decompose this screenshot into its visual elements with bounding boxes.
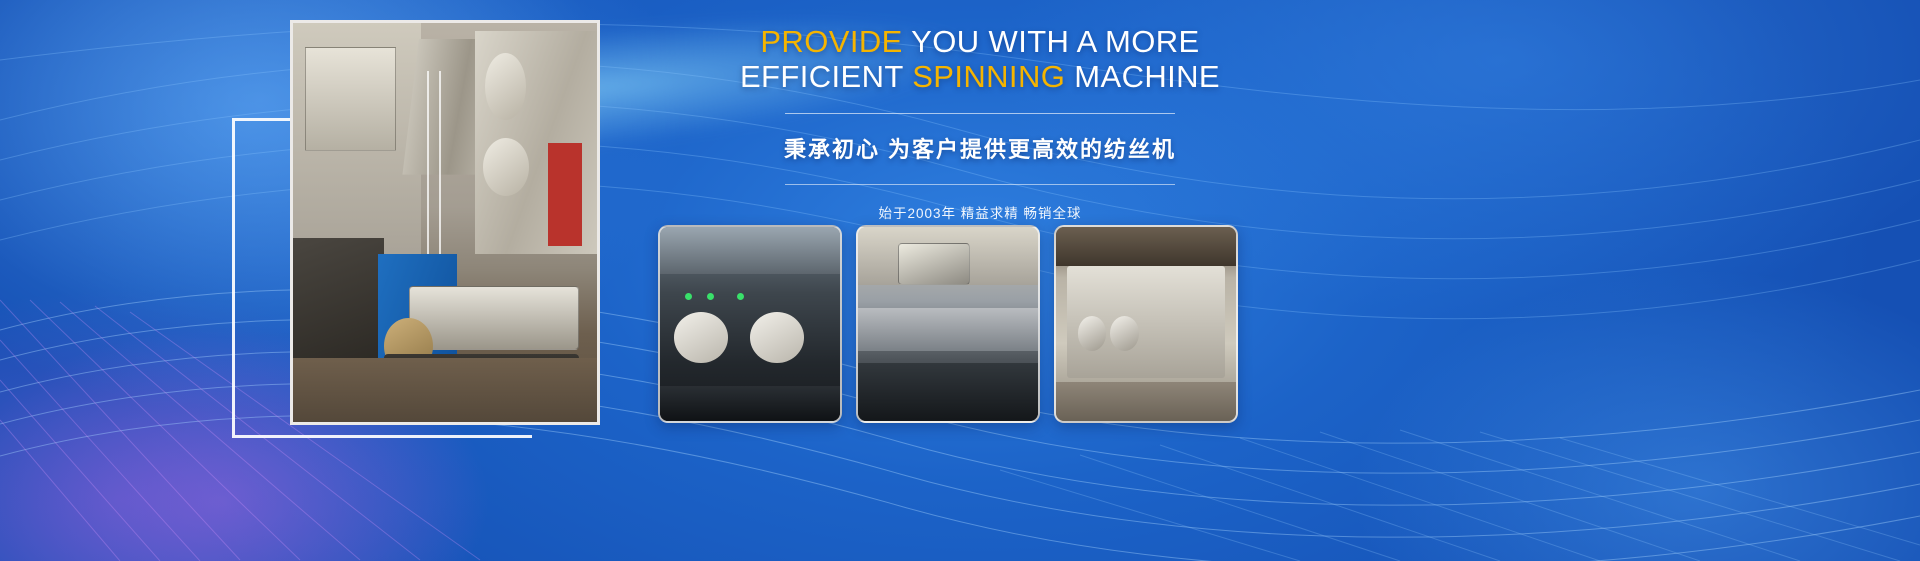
tagline: 始于2003年 精益求精 畅销全球	[700, 202, 1260, 222]
headline-accent-spinning: SPINNING	[912, 59, 1065, 94]
hero-photo-filament-a	[427, 71, 429, 263]
headline-line-2-pre: EFFICIENT	[740, 59, 912, 94]
headline-line-2-rest: MACHINE	[1065, 59, 1220, 94]
hero-product-photo	[290, 20, 600, 425]
headline-line-2: EFFICIENT SPINNING MACHINE	[700, 59, 1260, 94]
chinese-headline: 秉承初心 为客户提供更高效的纺丝机	[700, 132, 1260, 164]
divider-bottom	[785, 184, 1175, 185]
hero-photo-filament-b	[439, 71, 441, 278]
thumb2-hood	[898, 243, 970, 286]
banner-copy: PROVIDE YOU WITH A MORE EFFICIENT SPINNI…	[700, 24, 1260, 222]
headline-line-1: PROVIDE YOU WITH A MORE	[700, 24, 1260, 59]
thumb2-base	[858, 363, 1038, 421]
hero-photo-red-cabinet	[548, 143, 581, 247]
hero-photo-shadow-area	[293, 238, 384, 374]
thumb3-floor	[1056, 382, 1236, 421]
divider-top	[785, 113, 1175, 114]
hero-photo-control-panel	[305, 47, 396, 151]
thumb2-midsection	[858, 308, 1038, 351]
thumb1-base	[660, 386, 840, 421]
hero-photo-steel-roller	[409, 286, 579, 350]
thumb3-ceiling	[1056, 227, 1236, 266]
thumb1-roof	[660, 227, 840, 274]
thumb3-dial-right	[1110, 316, 1139, 351]
headline-accent-provide: PROVIDE	[760, 24, 902, 59]
thumbnail-winding-machine[interactable]	[658, 225, 842, 423]
hero-banner: PROVIDE YOU WITH A MORE EFFICIENT SPINNI…	[0, 0, 1920, 561]
hero-photo-floor	[293, 358, 597, 422]
thumb1-indicator-lights	[685, 293, 692, 300]
thumbnail-spinning-line[interactable]	[856, 225, 1040, 423]
thumbnail-steel-cabinets[interactable]	[1054, 225, 1238, 423]
headline-line-1-rest: YOU WITH A MORE	[903, 24, 1200, 59]
thumbnail-strip	[658, 225, 1238, 423]
